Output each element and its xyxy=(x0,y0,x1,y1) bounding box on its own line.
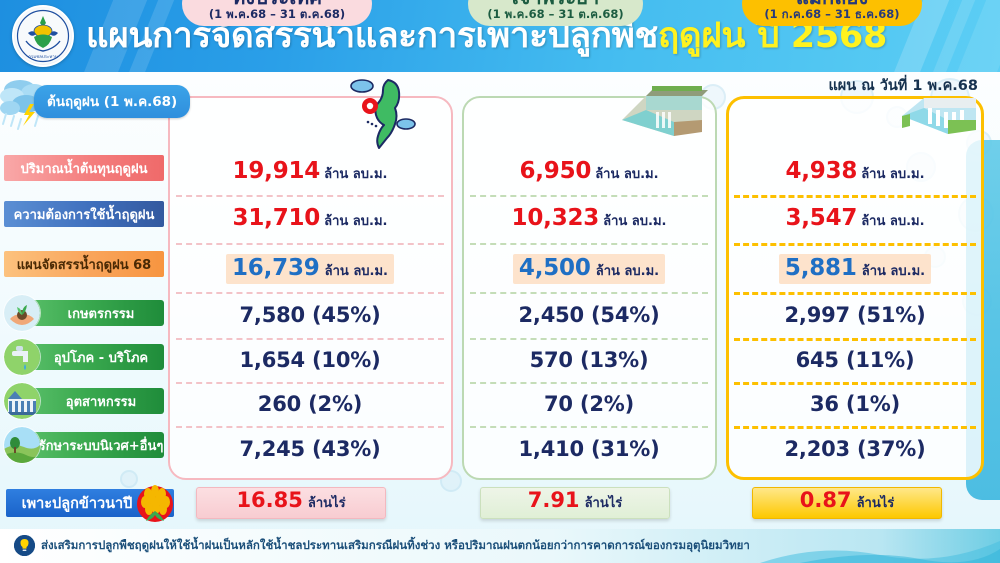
value-agriculture: 7,580 (45%) xyxy=(176,303,444,333)
panel-chao-phraya xyxy=(462,96,717,480)
lightbulb-icon xyxy=(14,535,35,556)
infographic-page: แผนการจัดสรรน้ำและการเพาะปลูกพืช ฤดูฝน ป… xyxy=(0,0,1000,563)
rice-value-number: 0.87 xyxy=(800,488,852,512)
ecosystem-icon xyxy=(4,427,40,463)
rice-value-chao-phraya: 7.91 ล้านไร่ xyxy=(480,487,670,519)
value-number: 6,950 xyxy=(519,158,591,184)
value-number: 1,410 (31%) xyxy=(519,437,660,461)
row-label-agriculture: เกษตรกรรม xyxy=(22,300,164,326)
value-number: 2,997 (51%) xyxy=(785,303,926,327)
value-unit: ล้าน ลบ.ม. xyxy=(324,210,387,231)
row-label-demand: ความต้องการใช้น้ำฤดูฝน xyxy=(4,201,164,227)
value-number: 36 (1%) xyxy=(810,392,900,416)
value-number: 2,450 (54%) xyxy=(519,303,660,327)
value-consumption: 570 (13%) xyxy=(470,348,708,378)
value-industry: 260 (2%) xyxy=(176,392,444,422)
value-number: 7,245 (43%) xyxy=(240,437,381,461)
value-unit: ล้าน ลบ.ม. xyxy=(603,210,666,231)
rice-value-unit: ล้านไร่ xyxy=(585,492,623,513)
row-label-supply: ปริมาณน้ำต้นทุนฤดูฝน xyxy=(4,155,164,181)
value-number: 19,914 xyxy=(233,158,321,184)
column-header-chao-phraya: เจ้าพระยา (1 พ.ค.68 – 31 ต.ค.68) xyxy=(468,0,643,26)
value-supply: 4,938 ล้าน ลบ.ม. xyxy=(734,158,976,188)
value-ecosystem: 1,410 (31%) xyxy=(470,437,708,467)
rice-sheaf-icon xyxy=(132,481,178,527)
value-unit: ล้าน ลบ.ม. xyxy=(862,264,925,279)
value-allocation: 5,881 ล้าน ลบ.ม. xyxy=(734,254,976,284)
row-label-text: รักษาระบบนิเวศ+อื่นๆ xyxy=(39,435,164,456)
column-period: (1 พ.ค.68 – 31 ต.ค.68) xyxy=(209,8,345,21)
value-number: 5,881 xyxy=(785,255,857,281)
value-allocation: 4,500 ล้าน ลบ.ม. xyxy=(470,254,708,284)
value-unit: ล้าน ลบ.ม. xyxy=(324,163,387,184)
plant-in-hand-icon xyxy=(4,295,40,331)
value-allocation: 16,739 ล้าน ลบ.ม. xyxy=(176,254,444,284)
value-unit: ล้าน ลบ.ม. xyxy=(861,163,924,184)
row-label-text: เกษตรกรรม xyxy=(68,303,135,324)
value-number: 10,323 xyxy=(512,205,600,231)
rice-value-number: 16.85 xyxy=(236,488,302,512)
value-consumption: 1,654 (10%) xyxy=(176,348,444,378)
royal-irrigation-department-logo: กรมชลประทาน xyxy=(12,5,74,67)
factory-icon xyxy=(4,383,40,419)
panel-mae-klong xyxy=(726,96,984,480)
value-number: 2,203 (37%) xyxy=(785,437,926,461)
rice-value-whole-country: 16.85 ล้านไร่ xyxy=(196,487,386,519)
faucet-icon xyxy=(4,339,40,375)
column-period: (1 ก.ค.68 – 31 ธ.ค.68) xyxy=(764,8,899,21)
value-consumption: 645 (11%) xyxy=(734,348,976,378)
value-number: 645 (11%) xyxy=(796,348,915,372)
column-header-whole-country: ทั้งประเทศ (1 พ.ค.68 – 31 ต.ค.68) xyxy=(182,0,372,26)
row-label-text: อุตสาหกรรม xyxy=(66,391,136,412)
rice-value-number: 7.91 xyxy=(528,488,580,512)
value-number: 260 (2%) xyxy=(258,392,362,416)
row-label-allocation: แผนจัดสรรน้ำฤดูฝน 68 xyxy=(4,251,164,277)
value-number: 3,547 xyxy=(785,205,857,231)
value-demand: 3,547 ล้าน ลบ.ม. xyxy=(734,205,976,235)
value-number: 31,710 xyxy=(233,205,321,231)
season-badge: ต้นฤดูฝน (1 พ.ค.68) xyxy=(34,85,190,118)
value-supply: 19,914 ล้าน ลบ.ม. xyxy=(176,158,444,188)
rice-row-label: เพาะปลูกข้าวนาปี xyxy=(6,489,174,517)
value-number: 16,739 xyxy=(232,255,320,281)
value-number: 4,938 xyxy=(785,158,857,184)
value-unit: ล้าน ลบ.ม. xyxy=(596,264,659,279)
value-number: 570 (13%) xyxy=(530,348,649,372)
value-industry: 36 (1%) xyxy=(734,392,976,422)
value-number: 7,580 (45%) xyxy=(240,303,381,327)
footer-text: ส่งเสริมการปลูกพืชฤดูฝนให้ใช้น้ำฝนเป็นหล… xyxy=(41,537,750,555)
rice-value-mae-klong: 0.87 ล้านไร่ xyxy=(752,487,942,519)
page-footer: ส่งเสริมการปลูกพืชฤดูฝนให้ใช้น้ำฝนเป็นหล… xyxy=(0,529,1000,563)
value-unit: ล้าน ลบ.ม. xyxy=(861,210,924,231)
row-label-consumption: อุปโภค - บริโภค xyxy=(22,344,164,370)
row-label-industry: อุตสาหกรรม xyxy=(22,388,164,414)
value-unit: ล้าน ลบ.ม. xyxy=(595,163,658,184)
value-number: 4,500 xyxy=(519,255,591,281)
row-label-text: อุปโภค - บริโภค xyxy=(54,347,148,368)
value-number: 70 (2%) xyxy=(544,392,634,416)
value-demand: 10,323 ล้าน ลบ.ม. xyxy=(470,205,708,235)
footer-wave xyxy=(760,529,1000,563)
value-agriculture: 2,997 (51%) xyxy=(734,303,976,333)
value-supply: 6,950 ล้าน ลบ.ม. xyxy=(470,158,708,188)
rice-value-unit: ล้านไร่ xyxy=(308,492,346,513)
dam-icon xyxy=(616,80,710,142)
value-industry: 70 (2%) xyxy=(470,392,708,422)
value-ecosystem: 7,245 (43%) xyxy=(176,437,444,467)
sluice-gate-icon xyxy=(898,86,990,144)
value-unit: ล้าน ลบ.ม. xyxy=(325,264,388,279)
value-ecosystem: 2,203 (37%) xyxy=(734,437,976,467)
value-number: 1,654 (10%) xyxy=(240,348,381,372)
value-agriculture: 2,450 (54%) xyxy=(470,303,708,333)
column-header-mae-klong: แม่กลอง (1 ก.ค.68 – 31 ธ.ค.68) xyxy=(742,0,922,26)
row-label-ecosystem: รักษาระบบนิเวศ+อื่นๆ xyxy=(22,432,164,458)
rice-row-label-text: เพาะปลูกข้าวนาปี xyxy=(22,492,133,515)
rice-value-unit: ล้านไร่ xyxy=(857,492,895,513)
value-demand: 31,710 ล้าน ลบ.ม. xyxy=(176,205,444,235)
thailand-map-icon xyxy=(348,74,420,154)
column-period: (1 พ.ค.68 – 31 ต.ค.68) xyxy=(487,8,623,21)
svg-text:กรมชลประทาน: กรมชลประทาน xyxy=(28,54,57,60)
